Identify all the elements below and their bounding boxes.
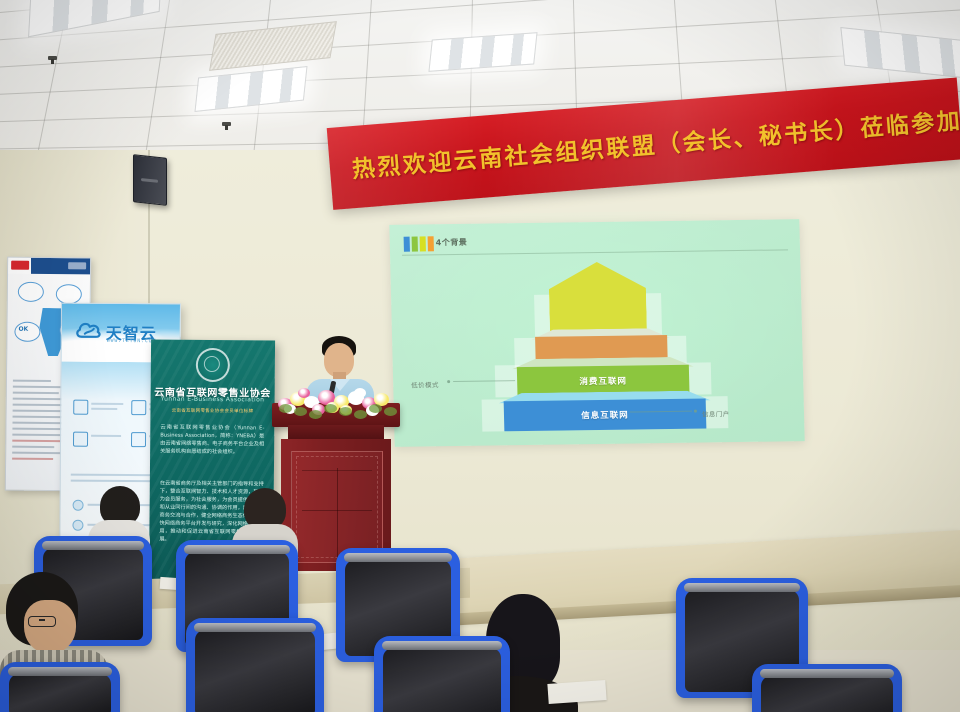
foliage-2: [294, 407, 307, 416]
slide-accent-bar-4: [428, 236, 434, 251]
chair-row2-a-bar: [8, 667, 112, 676]
poster-bubble-1: [18, 282, 44, 302]
chair-row2-c-bar: [382, 641, 502, 650]
poster-text-line-14: [12, 458, 53, 460]
handout-paper-3: [547, 680, 606, 704]
chair-row2-c-pad: [383, 648, 501, 712]
slide-accent-bar-3: [420, 236, 426, 251]
wall-speaker-icon: [133, 154, 167, 206]
flower-15: [354, 388, 366, 398]
slide-accent-bar-1: [404, 237, 410, 252]
podium-front-panel: [291, 451, 383, 563]
foliage-5: [339, 407, 352, 416]
slide-accent-bar-2: [412, 237, 418, 252]
cloud-feature-icon-3: [73, 432, 88, 447]
slide-divider: [402, 249, 788, 255]
podium-panel-split-lower: [302, 510, 372, 511]
chair-row2-c[interactable]: [374, 636, 510, 712]
pyramid-tier4: [548, 261, 647, 336]
photo-scene: 热烈欢迎云南社会组织联盟（会长、秘书长）莅临参加第八期品牌日活动 4个背景 消费…: [0, 0, 960, 712]
cloud-feature-icon-1: [73, 400, 88, 415]
slide-accent-bars: [404, 236, 434, 251]
poster-text-line-5: [13, 404, 66, 407]
poster-ok-badge: OK: [18, 326, 28, 333]
attendee-front-left-face: [24, 600, 76, 654]
chair-row2-b-pad: [195, 630, 315, 712]
poster-text-line-12: [12, 446, 54, 448]
cloud-bullet-2: [72, 520, 83, 531]
poster-header-tag: [68, 262, 86, 269]
foliage-1: [279, 404, 292, 413]
chair-row2-d-bar: [760, 669, 894, 678]
slide-right-label: 信息门户: [702, 408, 730, 418]
chair-row1-a-bar: [42, 541, 144, 550]
poster-bubble-2: [56, 284, 82, 304]
poster-text-line-3: [13, 392, 59, 394]
cloud-text-line-5: [91, 435, 121, 437]
association-seal-icon: [196, 348, 230, 382]
chair-row2-a[interactable]: [0, 662, 120, 712]
chair-row2-d[interactable]: [752, 664, 902, 712]
chair-row1-d-bar: [684, 583, 800, 592]
cloud-feature-icon-2: [131, 400, 146, 415]
cloud-text-line-1: [91, 403, 123, 405]
cloud-brand-url: WWW.TZYUN.COM: [107, 338, 157, 344]
cloud-text-line-2: [91, 408, 117, 410]
sprinkler-head-2: [222, 122, 231, 126]
pyramid-tier2-label: 消费互联网: [517, 374, 689, 388]
foliage-4: [324, 404, 337, 413]
left-label-dot: [447, 380, 450, 383]
slide-title: 4个背景: [436, 237, 468, 248]
podium-panel-split-vertical: [337, 468, 338, 558]
chair-row2-d-pad: [761, 676, 893, 712]
association-paragraph-1: 云南省互联网零售业协会（Yunnan E-Business Associatio…: [160, 424, 264, 457]
eyeglasses-icon: [28, 616, 56, 627]
cloud-bullet-1: [73, 500, 84, 511]
cloud-logo-icon: [76, 320, 102, 342]
association-name-en: Yunnan E-Business Association: [151, 395, 275, 403]
foliage-8: [384, 407, 397, 416]
chair-row1-b-bar: [184, 545, 290, 554]
right-label-dot: [694, 410, 697, 413]
pyramid-tier1: 信息互联网: [504, 398, 707, 431]
poster-text-line-10: [12, 434, 62, 437]
sprinkler-head-1: [48, 56, 57, 60]
flower-13: [298, 388, 310, 398]
foliage-7: [369, 404, 382, 413]
flower-arrangement: [276, 386, 398, 414]
slide-left-label: 低价模式: [411, 379, 439, 389]
foliage-3: [309, 410, 322, 419]
chair-row2-b-bar: [194, 623, 316, 632]
pyramid-tier1-label: 信息互联网: [504, 407, 706, 422]
association-subtitle: 云南省互联网零售业协会会员单位标牌: [150, 407, 274, 414]
chair-row2-b[interactable]: [186, 618, 324, 712]
podium-panel-split-upper: [302, 470, 372, 471]
projection-screen: 4个背景 消费互联网 信息互联网 低价模式 信息门户: [389, 219, 804, 447]
chair-row1-c-bar: [344, 553, 452, 562]
poster-logo-icon: [11, 261, 29, 270]
poster-text-line-1: [13, 380, 51, 382]
chair-row2-a-pad: [9, 674, 111, 712]
cloud-feature-icon-4: [131, 432, 146, 447]
foliage-6: [354, 410, 367, 419]
